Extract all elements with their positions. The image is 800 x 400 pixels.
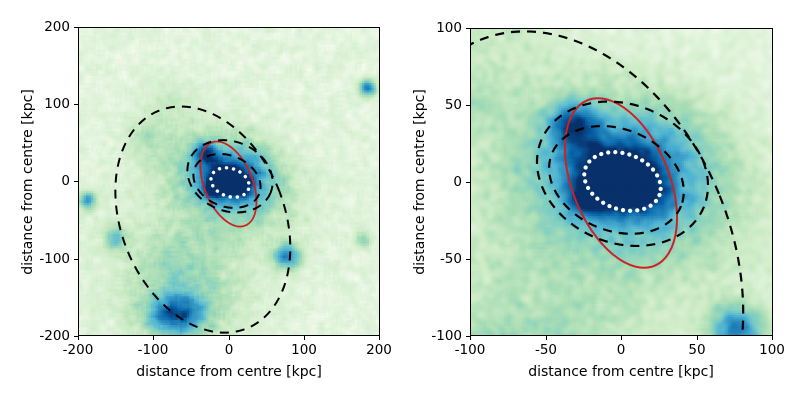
xtick-label: 200 bbox=[366, 342, 392, 358]
ytick-mark bbox=[466, 105, 470, 106]
xtick-mark bbox=[304, 336, 305, 340]
figure-canvas: -200 -100 0 100 200 200 100 0 -100 -200 … bbox=[0, 0, 800, 400]
xtick-label: 100 bbox=[291, 342, 317, 358]
ytick-label: 200 bbox=[28, 19, 70, 35]
ytick-mark bbox=[74, 259, 78, 260]
xtick-label: -100 bbox=[138, 342, 169, 358]
xtick-label: -100 bbox=[455, 342, 486, 358]
xtick-mark bbox=[697, 336, 698, 340]
ytick-label: -100 bbox=[420, 328, 462, 344]
xtick-label: 50 bbox=[688, 342, 705, 358]
ytick-label: 100 bbox=[420, 20, 462, 36]
xtick-mark bbox=[379, 336, 380, 340]
xtick-label: 0 bbox=[225, 342, 234, 358]
xtick-mark bbox=[772, 336, 773, 340]
xtick-label: -200 bbox=[63, 342, 94, 358]
ytick-mark bbox=[466, 182, 470, 183]
xtick-mark bbox=[621, 336, 622, 340]
xtick-mark bbox=[229, 336, 230, 340]
left-panel-xaxis-label: distance from centre [kpc] bbox=[136, 364, 322, 380]
right-panel-xaxis-label: distance from centre [kpc] bbox=[528, 364, 714, 380]
left-panel-yaxis-label: distance from centre [kpc] bbox=[20, 89, 36, 275]
right-panel-image bbox=[471, 29, 773, 336]
xtick-label: 100 bbox=[759, 342, 785, 358]
ytick-mark bbox=[74, 104, 78, 105]
left-panel-plot-area[interactable] bbox=[78, 27, 380, 336]
ytick-mark bbox=[74, 336, 78, 337]
ytick-mark bbox=[466, 259, 470, 260]
xtick-mark bbox=[470, 336, 471, 340]
ytick-mark bbox=[466, 28, 470, 29]
left-panel-image bbox=[79, 28, 380, 336]
xtick-label: 0 bbox=[617, 342, 626, 358]
ytick-label: -200 bbox=[28, 328, 70, 344]
xtick-mark bbox=[546, 336, 547, 340]
ytick-mark bbox=[74, 27, 78, 28]
xtick-label: -50 bbox=[535, 342, 557, 358]
ytick-mark bbox=[466, 336, 470, 337]
right-panel-yaxis-label: distance from centre [kpc] bbox=[412, 89, 428, 275]
right-panel-plot-area[interactable] bbox=[470, 28, 773, 336]
xtick-mark bbox=[78, 336, 79, 340]
xtick-mark bbox=[153, 336, 154, 340]
ytick-mark bbox=[74, 181, 78, 182]
